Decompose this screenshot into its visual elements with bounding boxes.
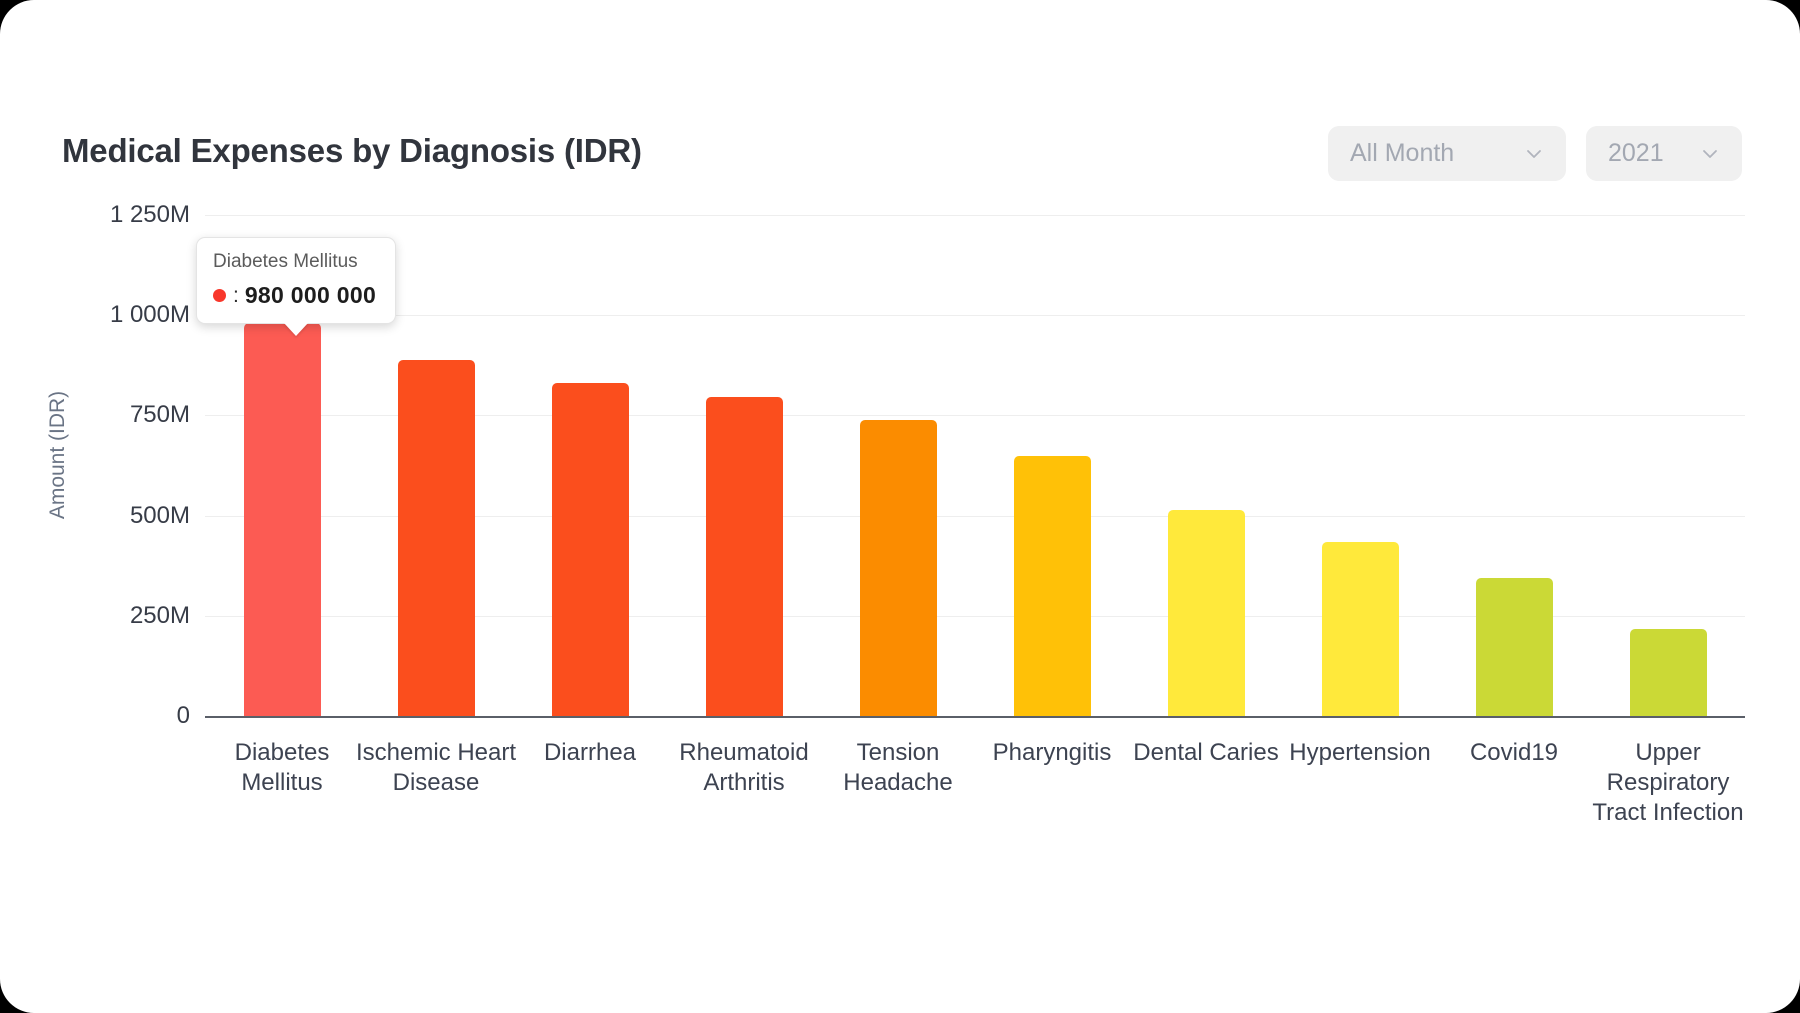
y-axis-tick-label: 1 000M [50, 301, 190, 329]
y-axis-tick-label: 0 [50, 702, 190, 730]
bar-5[interactable] [860, 420, 937, 716]
tooltip-value: 980 000 000 [245, 282, 376, 309]
bar-9[interactable] [1476, 578, 1553, 716]
x-axis-tick-label: Diarrhea [506, 738, 674, 768]
chart-card: Medical Expenses by Diagnosis (IDR) All … [0, 0, 1800, 1013]
bar-chart: Amount (IDR) 0250M500M750M1 000M1 250M D… [0, 0, 1800, 1013]
y-axis-tick-label: 500M [50, 502, 190, 530]
tooltip-separator: : [233, 284, 239, 308]
x-axis-tick-label: Upper Respiratory Tract Infection [1584, 738, 1752, 828]
y-axis-tick-label: 250M [50, 602, 190, 630]
x-axis-tick-label: Ischemic Heart Disease [352, 738, 520, 798]
bar-2[interactable] [398, 360, 475, 716]
bar-10[interactable] [1630, 629, 1707, 716]
bar-1[interactable] [244, 323, 321, 716]
x-axis-tick-label: Rheumatoid Arthritis [660, 738, 828, 798]
tooltip-arrow-icon [284, 323, 308, 336]
data-tooltip: Diabetes Mellitus : 980 000 000 [196, 237, 396, 324]
tooltip-value-row: : 980 000 000 [213, 282, 379, 309]
x-axis-tick-label: Tension Headache [814, 738, 982, 798]
bar-4[interactable] [706, 397, 783, 716]
x-axis-tick-label: Hypertension [1276, 738, 1444, 768]
bar-3[interactable] [552, 383, 629, 716]
bar-8[interactable] [1322, 542, 1399, 716]
bar-6[interactable] [1014, 456, 1091, 716]
bars-layer [205, 0, 1745, 1013]
x-axis-tick-label: Pharyngitis [968, 738, 1136, 768]
y-axis-tick-label: 1 250M [50, 201, 190, 229]
series-color-dot-icon [213, 289, 226, 302]
y-axis-tick-label: 750M [50, 401, 190, 429]
x-axis-tick-label: Covid19 [1430, 738, 1598, 768]
x-axis-tick-label: Diabetes Mellitus [198, 738, 366, 798]
bar-7[interactable] [1168, 510, 1245, 716]
x-axis-tick-label: Dental Caries [1122, 738, 1290, 768]
tooltip-title: Diabetes Mellitus [213, 251, 379, 273]
